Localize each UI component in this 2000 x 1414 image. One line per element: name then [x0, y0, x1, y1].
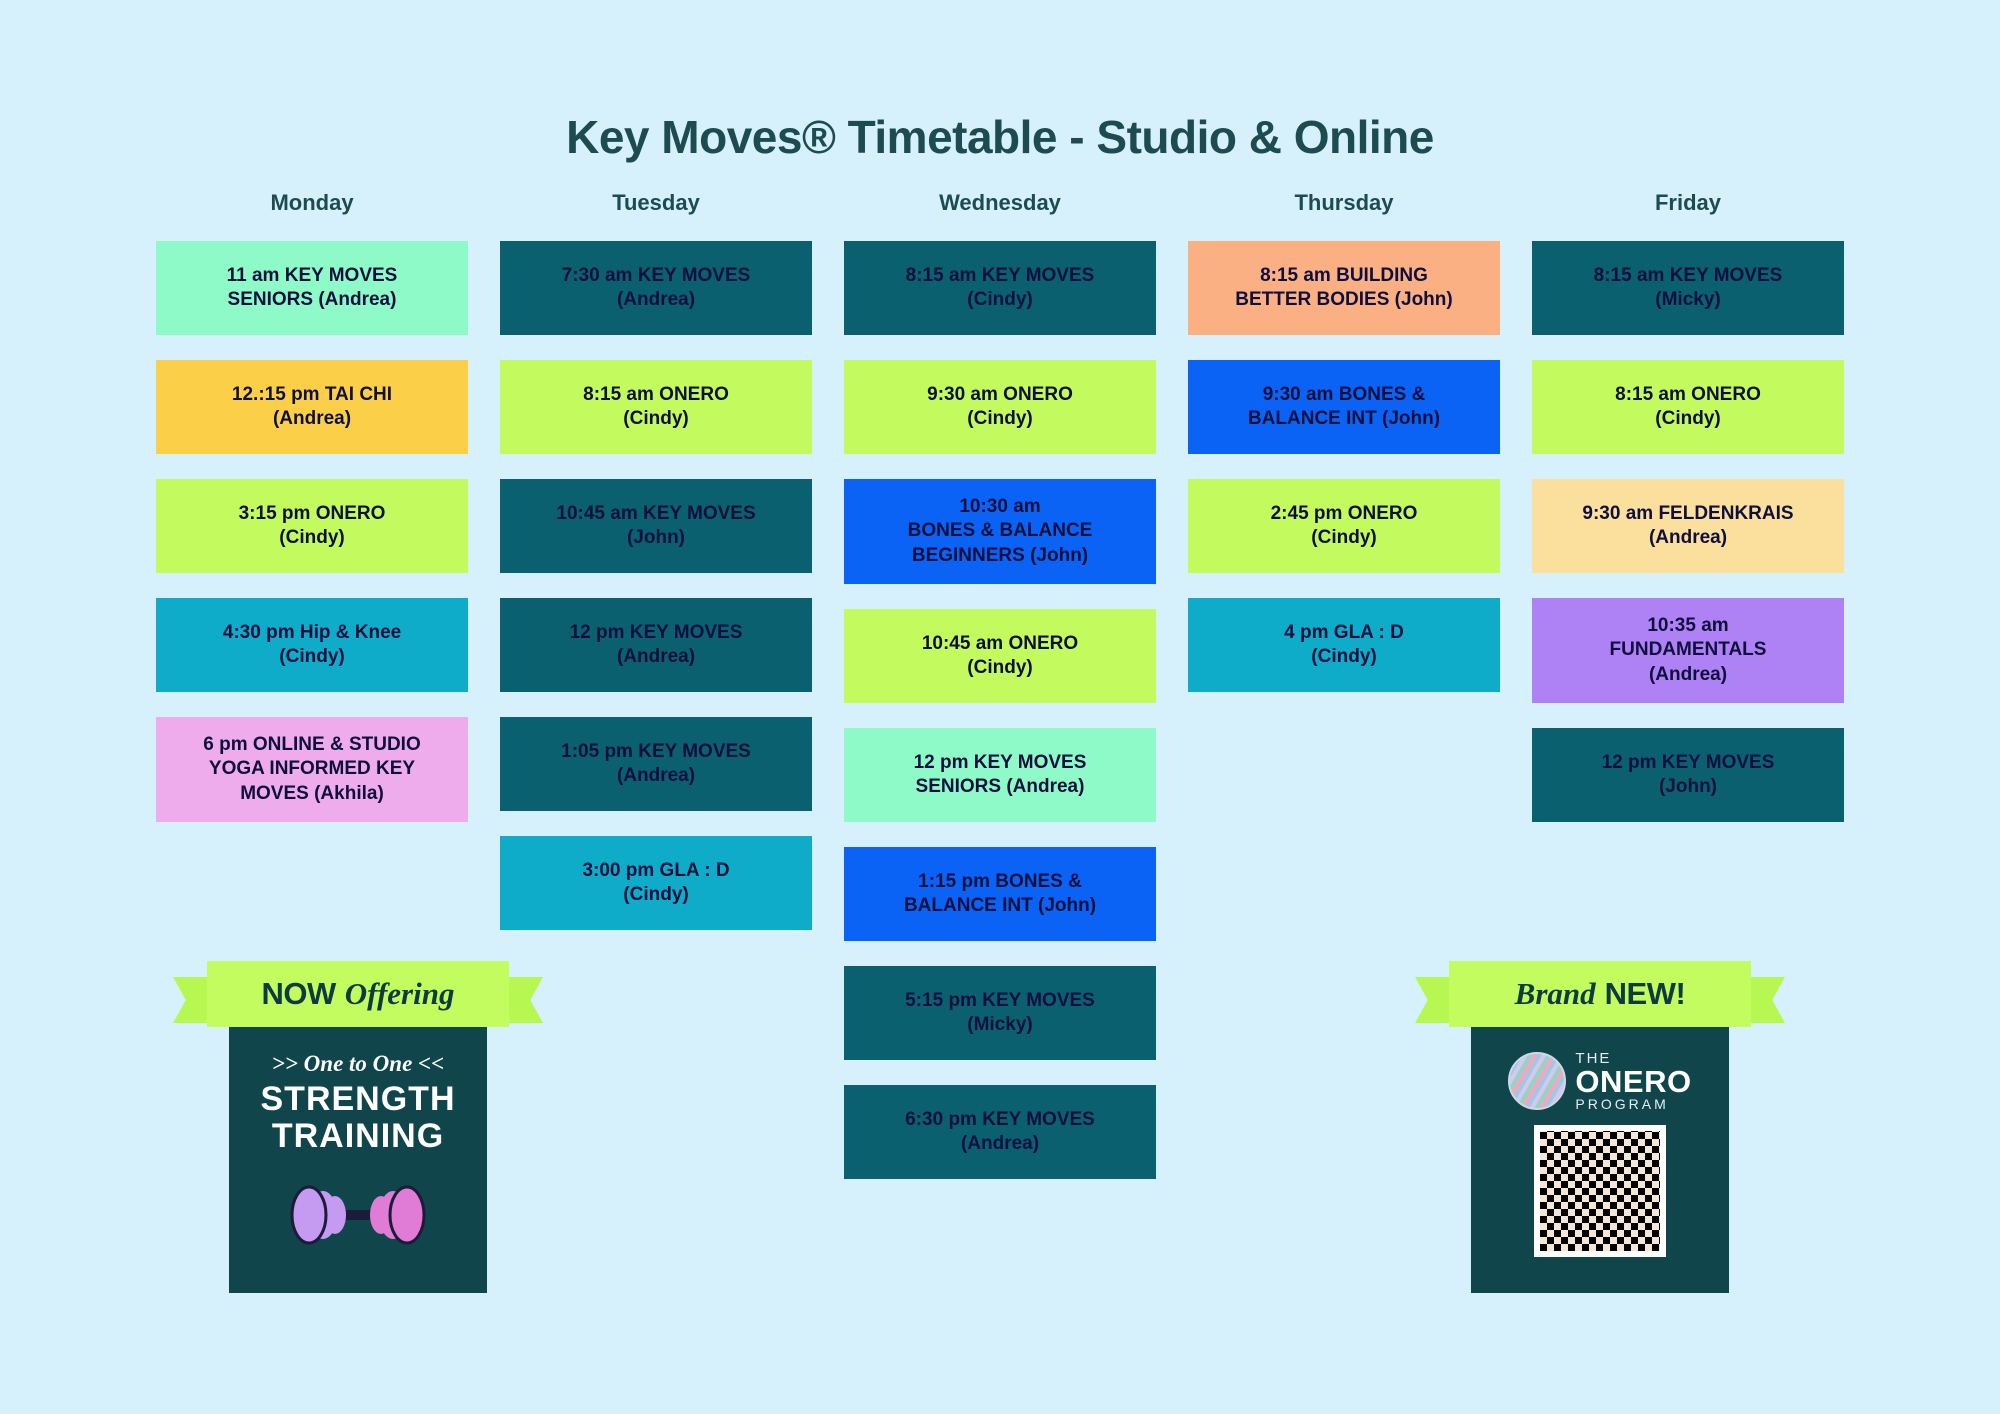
class-block[interactable]: 4 pm GLA : D(Cindy): [1188, 598, 1500, 692]
class-block-line: BALANCE INT (John): [904, 894, 1096, 918]
class-block-line: 8:15 am ONERO: [1615, 383, 1761, 407]
strength-training-card[interactable]: >> One to One << STRENGTH TRAINING: [229, 1025, 487, 1293]
class-block-line: BALANCE INT (John): [1248, 407, 1440, 431]
class-block-line: (John): [627, 526, 685, 550]
strength-label: STRENGTH: [261, 1081, 456, 1118]
class-block-line: (Andrea): [617, 288, 695, 312]
onero-wordmark: THE ONERO PROGRAM: [1575, 1051, 1691, 1111]
class-block-line: 4:30 pm Hip & Knee: [223, 621, 401, 645]
class-block-line: 9:30 am FELDENKRAIS: [1582, 502, 1793, 526]
class-block-line: 4 pm GLA : D: [1284, 621, 1404, 645]
class-block[interactable]: 1:15 pm BONES &BALANCE INT (John): [844, 847, 1156, 941]
class-block-line: 10:35 am: [1647, 614, 1728, 638]
ribbon-body: NOW Offering: [207, 961, 509, 1027]
class-block-line: 3:15 pm ONERO: [239, 502, 386, 526]
class-block-line: FUNDAMENTALS: [1610, 638, 1767, 662]
class-block-line: 8:15 am BUILDING: [1260, 264, 1428, 288]
day-column-friday: Friday8:15 am KEY MOVES(Micky)8:15 am ON…: [1532, 190, 1844, 847]
class-block[interactable]: 7:30 am KEY MOVES(Andrea): [500, 241, 812, 335]
class-block-line: (Cindy): [623, 883, 688, 907]
class-block-line: 8:15 am KEY MOVES: [1594, 264, 1783, 288]
day-header-tuesday: Tuesday: [500, 190, 812, 216]
class-block-line: 12 pm KEY MOVES: [914, 751, 1087, 775]
class-block[interactable]: 11 am KEY MOVESSENIORS (Andrea): [156, 241, 468, 335]
onero-swirl-icon: [1508, 1052, 1566, 1110]
class-block[interactable]: 10:30 amBONES & BALANCEBEGINNERS (John): [844, 479, 1156, 584]
onero-program-card[interactable]: THE ONERO PROGRAM: [1471, 1025, 1729, 1293]
class-block-line: (Andrea): [1649, 526, 1727, 550]
class-block[interactable]: 8:15 am BUILDINGBETTER BODIES (John): [1188, 241, 1500, 335]
class-block-line: (Andrea): [1649, 663, 1727, 687]
class-block[interactable]: 6 pm ONLINE & STUDIOYOGA INFORMED KEYMOV…: [156, 717, 468, 822]
class-block-line: SENIORS (Andrea): [228, 288, 397, 312]
class-block-line: 8:15 am ONERO: [583, 383, 729, 407]
class-block-line: 3:00 pm GLA : D: [582, 859, 729, 883]
class-block-line: 1:05 pm KEY MOVES: [561, 740, 751, 764]
class-block-line: (Cindy): [967, 288, 1032, 312]
class-block[interactable]: 8:15 am KEY MOVES(Micky): [1532, 241, 1844, 335]
class-block-line: (Cindy): [279, 526, 344, 550]
promo-banners: NOW Offering >> One to One << STRENGTH T…: [0, 955, 2000, 1375]
ribbon-now-offering: NOW Offering: [173, 955, 543, 1033]
qr-code-pattern: [1540, 1131, 1660, 1251]
class-block[interactable]: 4:30 pm Hip & Knee(Cindy): [156, 598, 468, 692]
ribbon-brand-label: Brand: [1515, 976, 1596, 1012]
one-to-one-label: >> One to One <<: [272, 1051, 445, 1077]
class-block-line: (Cindy): [967, 407, 1032, 431]
class-block-line: 10:30 am: [959, 495, 1040, 519]
qr-code[interactable]: [1534, 1125, 1666, 1257]
class-block[interactable]: 10:45 am KEY MOVES(John): [500, 479, 812, 573]
class-block-line: 2:45 pm ONERO: [1271, 502, 1418, 526]
class-block[interactable]: 3:00 pm GLA : D(Cindy): [500, 836, 812, 930]
promo-strength-training[interactable]: NOW Offering >> One to One << STRENGTH T…: [148, 955, 568, 1293]
class-block-line: (Andrea): [617, 645, 695, 669]
class-block-line: 9:30 am ONERO: [927, 383, 1073, 407]
class-block-line: 12 pm KEY MOVES: [1602, 751, 1775, 775]
promo-onero-program[interactable]: Brand NEW! THE ONERO PROGRAM: [1390, 955, 1810, 1293]
day-column-thursday: Thursday8:15 am BUILDINGBETTER BODIES (J…: [1188, 190, 1500, 717]
class-block[interactable]: 12 pm KEY MOVESSENIORS (Andrea): [844, 728, 1156, 822]
class-block-line: (Micky): [1655, 288, 1720, 312]
class-block[interactable]: 3:15 pm ONERO(Cindy): [156, 479, 468, 573]
class-block-line: SENIORS (Andrea): [916, 775, 1085, 799]
class-block-line: (Cindy): [1311, 526, 1376, 550]
class-block-line: 6 pm ONLINE & STUDIO: [203, 733, 420, 757]
class-block[interactable]: 1:05 pm KEY MOVES(Andrea): [500, 717, 812, 811]
ribbon-offering-label: Offering: [345, 976, 455, 1012]
class-block-line: 9:30 am BONES &: [1263, 383, 1426, 407]
class-block[interactable]: 9:30 am ONERO(Cindy): [844, 360, 1156, 454]
dumbbell-icon: [265, 1172, 451, 1263]
class-block[interactable]: 10:45 am ONERO(Cindy): [844, 609, 1156, 703]
class-block-line: (Cindy): [1311, 645, 1376, 669]
training-label: TRAINING: [272, 1118, 444, 1155]
class-block-line: 12 pm KEY MOVES: [570, 621, 743, 645]
class-block[interactable]: 12 pm KEY MOVES(John): [1532, 728, 1844, 822]
class-block-line: BETTER BODIES (John): [1235, 288, 1452, 312]
class-block-line: 11 am KEY MOVES: [227, 264, 398, 288]
class-block[interactable]: 8:15 am ONERO(Cindy): [500, 360, 812, 454]
onero-name-label: ONERO: [1575, 1066, 1691, 1097]
class-block-line: (Cindy): [623, 407, 688, 431]
class-block-line: (Cindy): [967, 656, 1032, 680]
class-block-line: 8:15 am KEY MOVES: [906, 264, 1095, 288]
class-block-line: (Andrea): [617, 764, 695, 788]
ribbon-now-label: NOW: [262, 976, 336, 1012]
class-block[interactable]: 8:15 am KEY MOVES(Cindy): [844, 241, 1156, 335]
class-block[interactable]: 12.:15 pm TAI CHI(Andrea): [156, 360, 468, 454]
page-title: Key Moves® Timetable - Studio & Online: [0, 0, 2000, 164]
class-block-line: (Cindy): [1655, 407, 1720, 431]
day-header-monday: Monday: [156, 190, 468, 216]
onero-logo: THE ONERO PROGRAM: [1508, 1051, 1691, 1111]
class-block[interactable]: 9:30 am BONES &BALANCE INT (John): [1188, 360, 1500, 454]
class-block-line: 10:45 am ONERO: [922, 632, 1078, 656]
class-block-line: BONES & BALANCE: [908, 519, 1093, 543]
class-block[interactable]: 9:30 am FELDENKRAIS(Andrea): [1532, 479, 1844, 573]
class-block-line: 10:45 am KEY MOVES: [556, 502, 755, 526]
class-block-line: (Cindy): [279, 645, 344, 669]
day-header-friday: Friday: [1532, 190, 1844, 216]
day-header-wednesday: Wednesday: [844, 190, 1156, 216]
ribbon-new-label: NEW!: [1605, 976, 1686, 1012]
day-header-thursday: Thursday: [1188, 190, 1500, 216]
class-block-line: 1:15 pm BONES &: [918, 870, 1082, 894]
day-column-tuesday: Tuesday7:30 am KEY MOVES(Andrea)8:15 am …: [500, 190, 812, 955]
class-block-line: 7:30 am KEY MOVES: [562, 264, 751, 288]
class-block[interactable]: 10:35 amFUNDAMENTALS(Andrea): [1532, 598, 1844, 703]
class-block-line: MOVES (Akhila): [240, 782, 384, 806]
ribbon-body: Brand NEW!: [1449, 961, 1751, 1027]
class-block-line: (Andrea): [273, 407, 351, 431]
class-block-line: BEGINNERS (John): [912, 544, 1088, 568]
class-block[interactable]: 8:15 am ONERO(Cindy): [1532, 360, 1844, 454]
class-block-line: 12.:15 pm TAI CHI: [232, 383, 392, 407]
onero-program-label: PROGRAM: [1575, 1097, 1691, 1111]
class-block-line: YOGA INFORMED KEY: [209, 757, 415, 781]
class-block[interactable]: 12 pm KEY MOVES(Andrea): [500, 598, 812, 692]
day-column-monday: Monday11 am KEY MOVESSENIORS (Andrea)12.…: [156, 190, 468, 847]
class-block-line: (John): [1659, 775, 1717, 799]
ribbon-brand-new: Brand NEW!: [1415, 955, 1785, 1033]
class-block[interactable]: 2:45 pm ONERO(Cindy): [1188, 479, 1500, 573]
